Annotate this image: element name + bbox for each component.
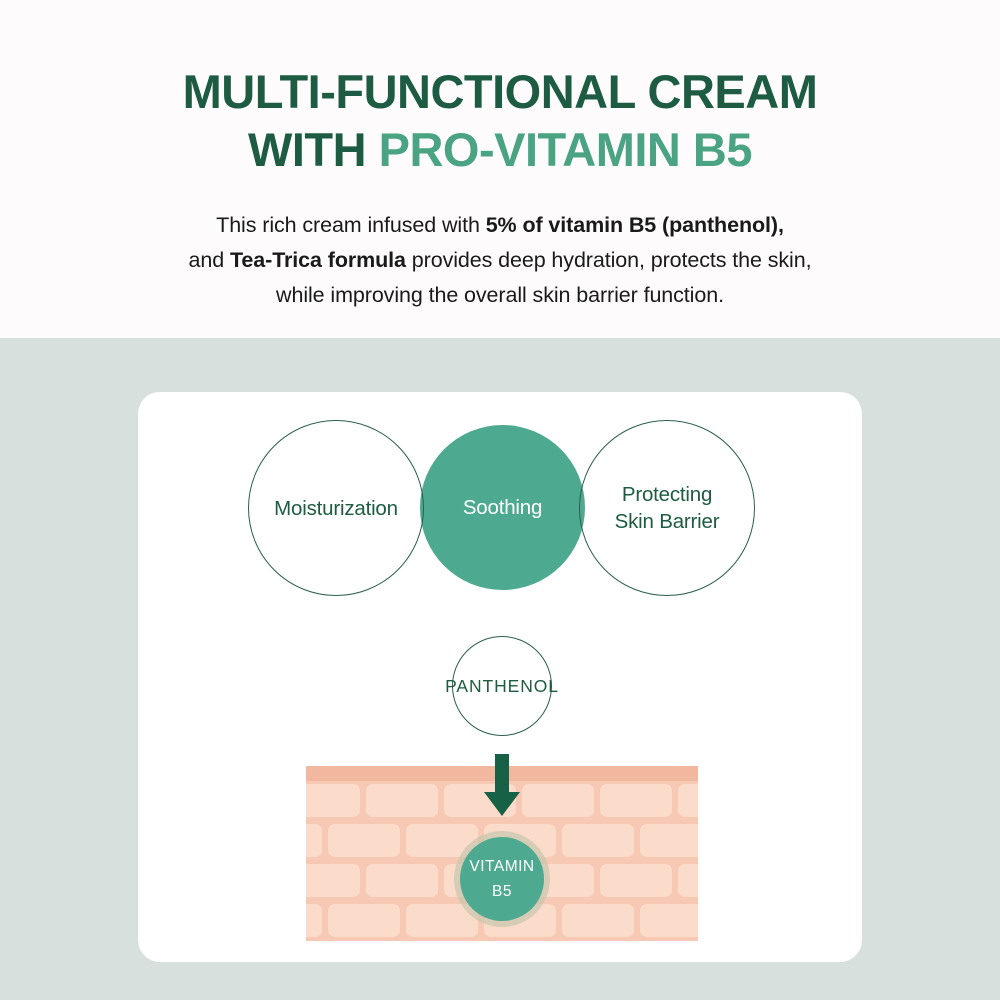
title-line-2: WITH PRO-VITAMIN B5 — [0, 121, 1000, 179]
description-line-2: and Tea-Trica formula provides deep hydr… — [0, 243, 1000, 278]
description-text-normal: while improving the overall skin barrier… — [276, 283, 724, 307]
ingredient-circle-panthenol: PANTHENOL — [452, 636, 552, 736]
benefit-label-soothing: Soothing — [463, 494, 542, 521]
brick — [328, 824, 400, 857]
brick — [678, 864, 698, 897]
page-title: MULTI-FUNCTIONAL CREAM WITH PRO-VITAMIN … — [0, 63, 1000, 179]
brick — [328, 904, 400, 937]
brick — [522, 784, 594, 817]
description-text-bold: 5% of vitamin B5 (panthenol), — [486, 213, 784, 237]
title-with-text: WITH — [248, 123, 379, 176]
benefit-label-protecting-line1: Protecting — [622, 483, 712, 506]
panthenol-label: PANTHENOL — [445, 676, 559, 697]
brick — [306, 784, 360, 817]
brick — [306, 824, 322, 857]
brick — [366, 784, 438, 817]
brick — [600, 784, 672, 817]
brick — [306, 864, 360, 897]
benefit-label-protecting-line2: Skin Barrier — [615, 510, 720, 533]
brick — [640, 904, 698, 937]
down-arrow-icon — [484, 754, 520, 816]
description-text-normal: provides deep hydration, protects the sk… — [406, 248, 812, 272]
brick — [678, 784, 698, 817]
benefit-circle-moisturization: Moisturization — [248, 420, 424, 596]
brick — [562, 824, 634, 857]
header-band: MULTI-FUNCTIONAL CREAM WITH PRO-VITAMIN … — [0, 0, 1000, 338]
benefit-circle-protecting-skin-barrier: Protecting Skin Barrier — [579, 420, 755, 596]
description-text-normal: and — [189, 248, 230, 272]
title-accent-text: PRO-VITAMIN B5 — [379, 123, 752, 176]
brick — [640, 824, 698, 857]
brick — [562, 904, 634, 937]
description-line-1: This rich cream infused with 5% of vitam… — [0, 208, 1000, 243]
vitamin-label-line2: B5 — [492, 879, 512, 904]
benefit-label-moisturization: Moisturization — [274, 495, 398, 522]
brick — [306, 904, 322, 937]
title-main-text: MULTI-FUNCTIONAL CREAM — [183, 65, 818, 118]
product-description: This rich cream infused with 5% of vitam… — [0, 208, 1000, 313]
benefit-label-protecting: Protecting Skin Barrier — [615, 481, 720, 535]
description-line-3: while improving the overall skin barrier… — [0, 278, 1000, 313]
vitamin-label-line1: VITAMIN — [469, 854, 534, 879]
brick — [600, 864, 672, 897]
title-line-1: MULTI-FUNCTIONAL CREAM — [0, 63, 1000, 121]
absorbed-circle-vitamin-b5: VITAMIN B5 — [460, 837, 544, 921]
brick — [366, 864, 438, 897]
description-text-bold: Tea-Trica formula — [230, 248, 406, 272]
benefit-circle-soothing: Soothing — [420, 425, 585, 590]
description-text-normal: This rich cream infused with — [216, 213, 486, 237]
